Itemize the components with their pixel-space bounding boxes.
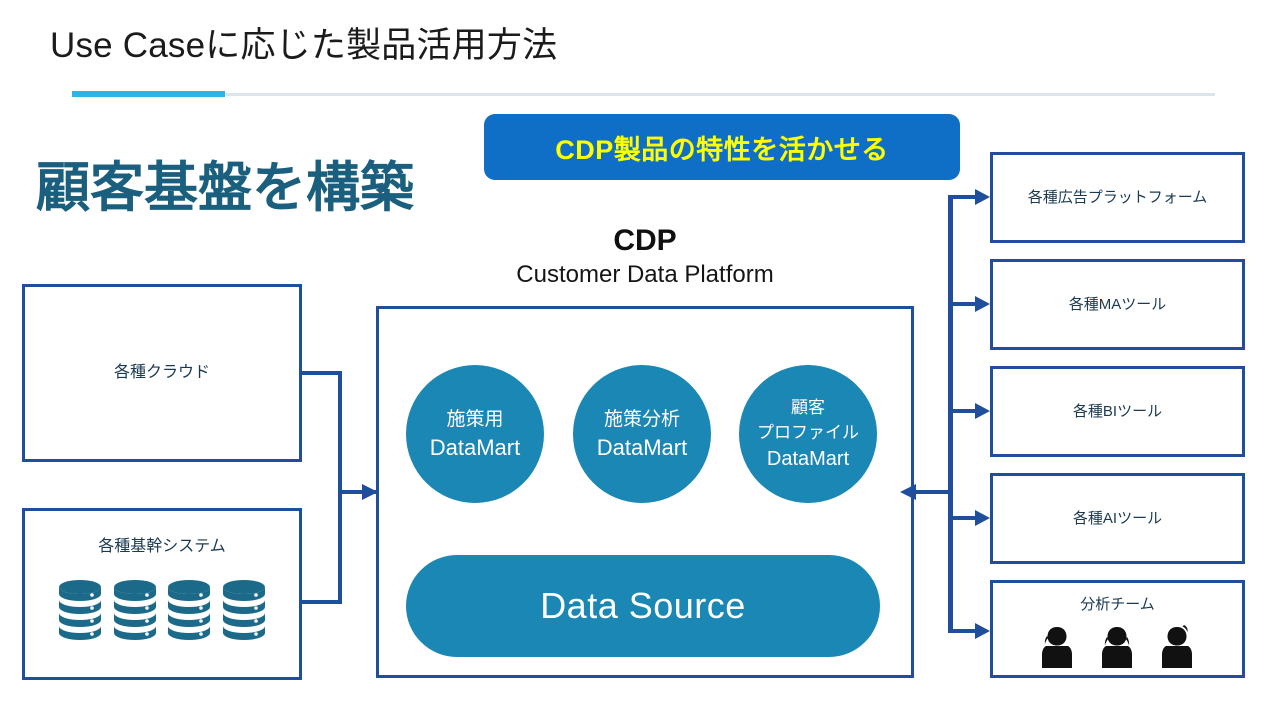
arrow-head-into-cdp-icon — [362, 484, 378, 500]
arrow-head-to-analytics-team-icon — [975, 623, 990, 639]
destination-box-bi-tools: 各種BIツール — [990, 366, 1245, 457]
source-box-cloud-label: 各種クラウド — [114, 363, 210, 383]
slide-canvas: Use Caseに応じた製品活用方法 顧客基盤を構築 CDP製品の特性を活かせる… — [0, 0, 1280, 720]
arrow-head-to-ad-platforms-icon — [975, 189, 990, 205]
destination-box-ad-platforms: 各種広告プラットフォーム — [990, 152, 1245, 243]
database-stack-icon — [222, 578, 266, 640]
datamart-label-en: DataMart — [767, 445, 849, 473]
arrow-head-to-ma-tools-icon — [975, 296, 990, 312]
destination-box-ma-tools-label: 各種MAツール — [1069, 295, 1167, 315]
connector-core-to-trunk — [302, 600, 342, 604]
page-title: Use Caseに応じた製品活用方法 — [50, 24, 557, 68]
connector-return-shaft-to-cdp — [916, 490, 952, 494]
destination-box-ai-tools-label: 各種AIツール — [1073, 509, 1162, 529]
people-group-icon — [1022, 616, 1212, 668]
destination-box-ad-platforms-label: 各種広告プラットフォーム — [1028, 188, 1208, 208]
datamart-label-jp: 施策分析 — [604, 406, 680, 433]
destination-box-ma-tools: 各種MAツール — [990, 259, 1245, 350]
datamart-label-jp-line2: プロファイル — [757, 420, 859, 445]
database-stack-icon-group — [58, 578, 266, 640]
datamart-label-jp: 施策用 — [446, 406, 503, 433]
database-stack-icon — [58, 578, 102, 640]
headline-text: 顧客基盤を構築 — [36, 155, 414, 221]
person-icon — [1038, 624, 1076, 668]
data-source-label: Data Source — [540, 585, 746, 627]
arrow-head-return-to-cdp-icon — [900, 484, 916, 500]
title-rule-accent — [72, 91, 225, 97]
connector-cloud-to-trunk — [302, 371, 342, 375]
person-icon — [1158, 624, 1196, 668]
destination-box-ai-tools: 各種AIツール — [990, 473, 1245, 564]
cdp-title: CDP — [375, 224, 915, 258]
connector-left-trunk — [338, 371, 342, 604]
connector-right-trunk — [948, 197, 953, 633]
destination-box-bi-tools-label: 各種BIツール — [1073, 402, 1162, 422]
source-box-core-systems-label: 各種基幹システム — [98, 537, 226, 557]
datamart-label-en: DataMart — [597, 433, 687, 463]
highlight-banner-label: CDP製品の特性を活かせる — [555, 128, 889, 167]
destination-box-analytics-team-label: 分析チーム — [1080, 595, 1155, 615]
data-source-pill: Data Source — [406, 555, 880, 657]
datamart-label-jp-line1: 顧客 — [791, 395, 825, 420]
database-stack-icon — [167, 578, 211, 640]
arrow-head-to-bi-tools-icon — [975, 403, 990, 419]
datamart-circle-analysis: 施策分析 DataMart — [573, 365, 711, 503]
datamart-label-en: DataMart — [430, 433, 520, 463]
database-stack-icon — [113, 578, 157, 640]
highlight-banner: CDP製品の特性を活かせる — [484, 114, 960, 180]
datamart-circle-profile: 顧客 プロファイル DataMart — [739, 365, 877, 503]
cdp-subtitle: Customer Data Platform — [375, 261, 915, 289]
datamart-circle-measures: 施策用 DataMart — [406, 365, 544, 503]
source-box-cloud: 各種クラウド — [22, 284, 302, 462]
arrow-head-to-ai-tools-icon — [975, 510, 990, 526]
title-rule-gray — [72, 93, 1215, 96]
person-icon — [1098, 624, 1136, 668]
